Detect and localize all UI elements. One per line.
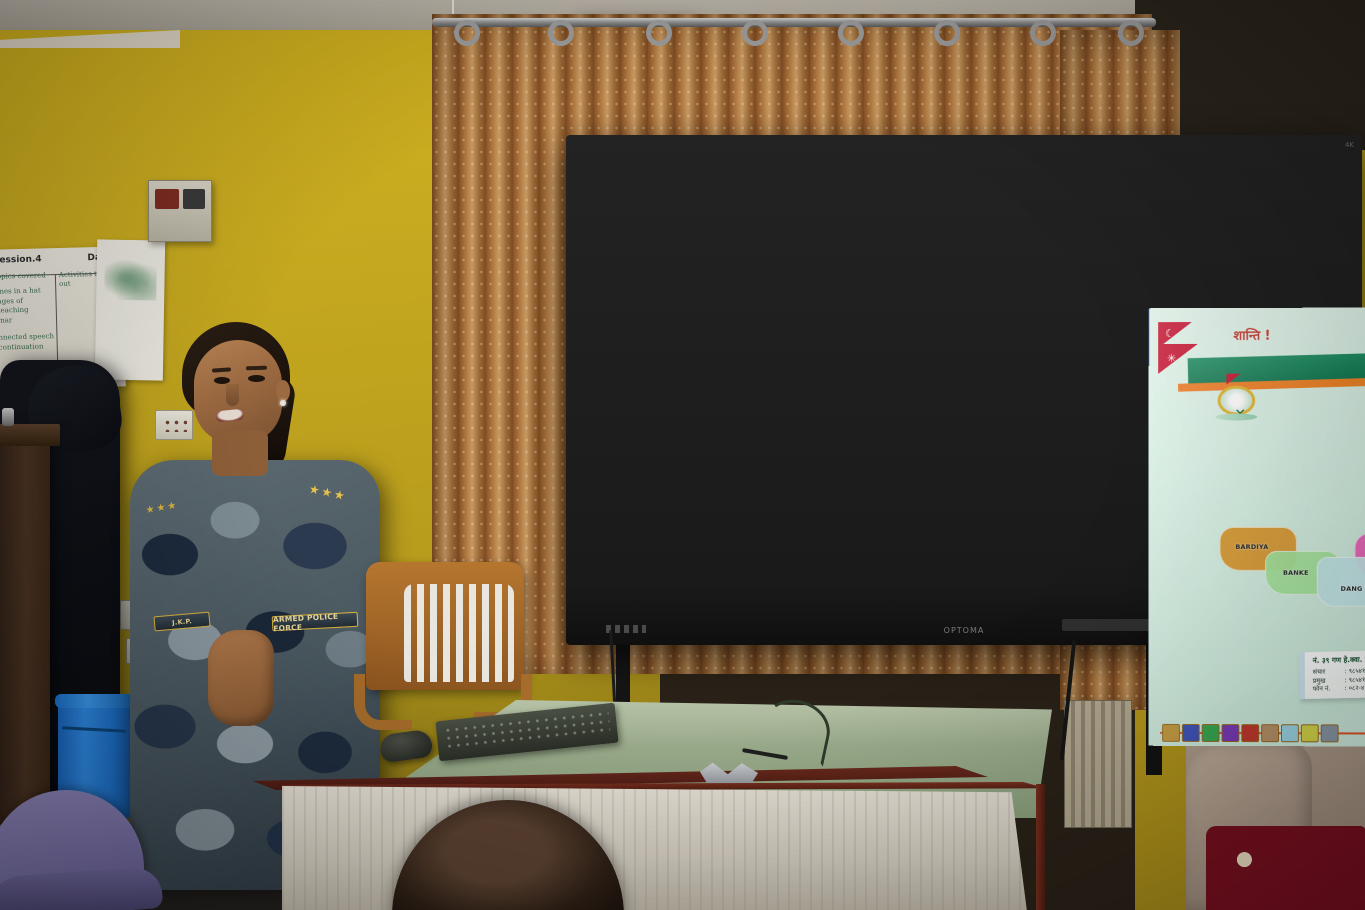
medal-icon [1241,724,1259,742]
presentation-slide: ☾ ✳ शान्ति ! सुरक्षा !! प्रतिबद्धता !!! … [1148,306,1365,749]
flipchart-col1-title: opics covered [0,271,55,282]
conference-room-scene: ession.4 Day.3 opics covered mes in a ha… [0,0,1365,910]
tv-brand-logo: OPTOMA [944,626,985,635]
slogan-row: शान्ति ! सुरक्षा !! प्रतिबद्धता !!! [1148,310,1365,352]
unit-box-key: फोन नं. [1313,684,1343,693]
flipchart-line: continuation [0,342,57,353]
medal-icon [1281,724,1299,742]
page-title: लुम्बिनी प्रदेश [1307,387,1365,418]
slide-subtitle-orderroom: बाहिनी आदेश कक्ष [1307,450,1365,464]
curtain-eyelet [548,20,574,46]
chair-slats [404,584,514,682]
flipchart-line: ages of teaching [0,296,56,316]
podium-top-surface [0,424,60,446]
apf-emblem-icon: ✕ [1214,374,1260,424]
flipchart-session-label: ession.4 [0,254,42,265]
slogan-peace: शान्ति ! [1233,326,1270,344]
podium-microphone [2,408,14,426]
lumbini-province-map: RUKUM_EROLPAPYUTHANGULMIBARDIYABANKEDANG… [1206,505,1365,655]
map-district-shape [1317,557,1365,607]
chair-armrest-left [354,674,412,730]
medal-icon [1202,724,1220,742]
presenter-nose [226,384,239,406]
map-district-label: BANKE [1283,569,1309,577]
paper-scribble [104,256,157,301]
electrical-junction-box [148,180,212,242]
medal-icon [1222,724,1240,742]
curtain-eyelet [742,20,768,46]
podium [0,430,50,830]
medal-ribbon-row [1162,724,1338,742]
curtain-eyelet [454,20,480,46]
presenter-earring [280,400,286,406]
flipchart-line: mar [0,315,56,326]
uniform-force-tape: ARMED POLICE FORCE [272,612,359,631]
slide-subtitle-battalion: नं. ५ बिन्ध्यावासिनी बाहिनी मुख्यालय, रू… [1307,435,1365,449]
radiator [1064,700,1132,828]
medal-icon [1162,724,1180,742]
curtain-eyelet [934,20,960,46]
curtain-eyelet [838,20,864,46]
unit-contact-box: नं. ३९ गण हे.क्वा. दाङसंचार : ९८५४१२७२०७… [1299,649,1365,699]
unit-box-value: : ०८२-४९५४३५ [1343,684,1365,693]
presenter-eye-right [248,375,265,382]
slide-subtitle-force: सशस्त्र प्रहरी बल, नेपाल [1307,419,1365,434]
curtain-eyelet [646,20,672,46]
medal-icon [1182,724,1200,742]
presenter-eyebrow-right [246,366,267,371]
unit-box-value: : ९८५४१२७२०७५८ [1343,675,1365,684]
map-district-label: BARDIYA [1235,543,1268,551]
emblem-flag [1226,374,1240,385]
emblem-base [1216,413,1258,420]
interactive-display-panel[interactable]: 4K OPTOMA HDMI ☾ ✳ शान्ति ! सुरक्षा !! प… [566,135,1362,645]
chair-backrest [366,562,524,690]
map-district-label: DANG [1341,585,1363,593]
medal-icon [1261,724,1279,742]
presenter-clasped-hands [208,630,274,726]
bucket-handle [62,726,126,732]
tollfree-block: टोल फ्रि. नं. ११९४ संचार नं. : ९८५१२७२०७… [1358,455,1365,512]
curtain-eyelet [1118,20,1144,46]
presenter-neck [212,430,268,476]
flag-sun-icon: ✳ [1167,352,1176,365]
curtain-eyelet [1030,20,1056,46]
medal-icon [1321,724,1339,742]
contact-sanchar: संचार नं. : ९८५१२७२०७८ [1358,483,1365,497]
presenter-ear [276,380,290,402]
flipchart-line: nnected speech [0,332,57,343]
presenter-eye-left [214,377,230,384]
unit-box-title: नं. ३९ गण हे.क्वा. दाङ [1313,653,1365,666]
medal-icon [1301,724,1319,742]
desk-side-trim [1036,784,1045,910]
tv-corner-badge: 4K [1345,141,1354,149]
unit-box-value: : ९८५४१२७२०७०८ [1343,666,1365,675]
emblem-wreath: ✕ [1218,386,1256,416]
sofa-cushion [1206,826,1365,910]
unit-contact-boxes: आश्रित गुल्म पूर्वी रुकुमसंचार : ९८५७८०८… [1148,306,1365,309]
slide-title-block: लुम्बिनी प्रदेश सशस्त्र प्रहरी बल, नेपाल… [1307,387,1365,464]
unit-box-row: फोन नं. : ०८२-४९५४३५ [1313,683,1365,694]
